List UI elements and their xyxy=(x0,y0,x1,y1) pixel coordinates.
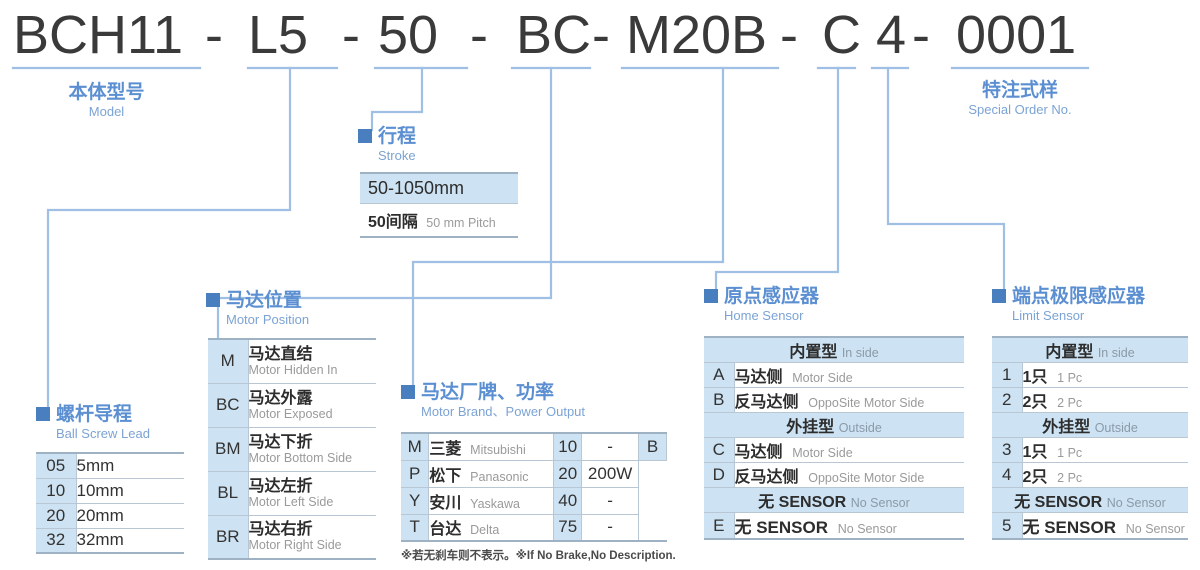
caption-stroke: 行程 Stroke xyxy=(358,126,416,164)
model-sep-2: - xyxy=(342,4,360,66)
cell-value: 10mm xyxy=(76,478,184,503)
cell-code: B xyxy=(704,388,734,413)
square-marker-icon xyxy=(206,293,220,307)
cell-value: 20mm xyxy=(76,503,184,528)
cell-code: BL xyxy=(208,471,248,515)
band-en: No Sensor xyxy=(1107,496,1166,510)
table-row: 20 20mm xyxy=(36,503,184,528)
cell-value-en: 1 Pc xyxy=(1057,371,1082,385)
table-row: B 反马达侧 OppoSite Motor Side xyxy=(704,388,964,413)
caption-stroke-cn-wrap: 行程 xyxy=(358,126,416,148)
band-cn: 外挂型 xyxy=(786,419,834,436)
cell-power-code: 20 xyxy=(554,460,582,487)
cell-value-cn: 1只 xyxy=(1023,369,1048,386)
motor-brand-footnote-en: ※If No Brake,No Description. xyxy=(516,550,676,562)
cell-code: M xyxy=(208,339,248,383)
table-row: 5 无 SENSOR No Sensor xyxy=(992,513,1188,540)
table-row: E 无 SENSOR No Sensor xyxy=(704,513,964,540)
table-row: 1 1只 1 Pc xyxy=(992,363,1188,388)
band-cn: 内置型 xyxy=(1045,344,1093,361)
stroke-pitch-cn: 50间隔 xyxy=(368,214,418,231)
cell-value: 马达外露 Motor Exposed xyxy=(248,383,376,427)
table-row: M 马达直结 Motor Hidden In xyxy=(208,339,376,383)
band-cn: 内置型 xyxy=(789,344,837,361)
cell-value-en: Motor Side xyxy=(792,446,852,460)
cell-value: 2只 2 Pc xyxy=(1022,463,1188,488)
leader-stroke xyxy=(372,68,422,130)
band-cell: 外挂型 Outside xyxy=(704,413,964,438)
table-row: D 反马达侧 OppoSite Motor Side xyxy=(704,463,964,488)
cell-value-en: No Sensor xyxy=(838,522,897,536)
cell-value-cn: 马达外露 xyxy=(249,390,377,407)
motor-brand-footnote: ※若无刹车则不表示。※If No Brake,No Description. xyxy=(401,547,676,563)
square-marker-icon xyxy=(358,129,372,143)
caption-motor-position-cn-wrap: 马达位置 xyxy=(206,290,309,312)
band-row: 内置型 In side xyxy=(992,337,1188,363)
table-row: 05 5mm xyxy=(36,453,184,478)
model-sep-3: - xyxy=(470,4,488,66)
table-row: BC 马达外露 Motor Exposed xyxy=(208,383,376,427)
caption-home-sensor-en: Home Sensor xyxy=(704,308,819,324)
caption-motor-brand-cn: 马达厂牌、功率 xyxy=(421,382,554,403)
cell-brand-name: 三菱 Mitsubishi xyxy=(429,433,554,460)
cell-value: 无 SENSOR No Sensor xyxy=(734,513,964,540)
cell-code: 32 xyxy=(36,528,76,553)
cell-value-cn: 马达直结 xyxy=(249,346,377,363)
cell-value-cn: 马达左折 xyxy=(249,478,377,495)
motor-brand-table: M 三菱 Mitsubishi 10 - B P 松下 Panasonic 20… xyxy=(401,432,667,542)
model-sep-1: - xyxy=(205,4,223,66)
band-row: 无 SENSOR No Sensor xyxy=(704,488,964,513)
cell-value: 马达右折 Motor Right Side xyxy=(248,515,376,559)
cell-brake-code xyxy=(639,487,667,514)
cell-brake-code xyxy=(639,514,667,541)
cell-value-cn: 马达右折 xyxy=(249,521,377,538)
caption-stroke-cn: 行程 xyxy=(378,126,416,147)
cell-brand-name: 松下 Panasonic xyxy=(429,460,554,487)
cell-code: 20 xyxy=(36,503,76,528)
model-seg-motor-position: BC xyxy=(516,4,591,66)
cell-value: 反马达侧 OppoSite Motor Side xyxy=(734,463,964,488)
band-en: In side xyxy=(1098,346,1135,360)
square-marker-icon xyxy=(992,289,1006,303)
caption-stroke-en: Stroke xyxy=(358,148,416,164)
caption-motor-position-cn: 马达位置 xyxy=(226,290,302,311)
cell-value: 马达侧 Motor Side xyxy=(734,363,964,388)
cell-code: C xyxy=(704,438,734,463)
model-seg-lead: L5 xyxy=(248,4,308,66)
band-en: Outside xyxy=(1095,421,1138,435)
cell-code: 1 xyxy=(992,363,1022,388)
band-row: 外挂型 Outside xyxy=(992,413,1188,438)
cell-code: 10 xyxy=(36,478,76,503)
model-code-diagram: BCH11-L5-50-BC-M20B-C4-0001 xyxy=(0,0,1200,570)
band-en: Outside xyxy=(839,421,882,435)
cell-value-en: Motor Bottom Side xyxy=(249,451,377,465)
cell-value-en: Motor Left Side xyxy=(249,495,377,509)
square-marker-icon xyxy=(36,407,50,421)
cell-value-cn: 2只 xyxy=(1023,394,1048,411)
caption-motor-brand-en: Motor Brand、Power Output xyxy=(401,404,585,420)
caption-special-order-cn: 特注式样 xyxy=(945,80,1095,102)
cell-value-cn: 反马达侧 xyxy=(735,394,799,411)
band-cell: 内置型 In side xyxy=(704,337,964,363)
cell-value-cn: 反马达侧 xyxy=(735,469,799,486)
cell-brand-name: 台达 Delta xyxy=(429,514,554,541)
caption-motor-brand-cn-wrap: 马达厂牌、功率 xyxy=(401,382,585,404)
caption-limit-sensor-en: Limit Sensor xyxy=(992,308,1145,324)
cell-value-en: 2 Pc xyxy=(1057,396,1082,410)
band-cn: 外挂型 xyxy=(1042,419,1090,436)
cell-value-en: Motor Side xyxy=(792,371,852,385)
stroke-pitch-row: 50间隔 50 mm Pitch xyxy=(360,204,518,238)
square-marker-icon xyxy=(704,289,718,303)
caption-model-en: Model xyxy=(13,104,200,120)
band-en: In side xyxy=(842,346,879,360)
caption-home-sensor-cn-wrap: 原点感应器 xyxy=(704,286,819,308)
table-row: 2 2只 2 Pc xyxy=(992,388,1188,413)
table-row: BL 马达左折 Motor Left Side xyxy=(208,471,376,515)
table-row: C 马达侧 Motor Side xyxy=(704,438,964,463)
cell-value-cn: 1只 xyxy=(1023,444,1048,461)
band-cell: 外挂型 Outside xyxy=(992,413,1188,438)
cell-value: 1只 1 Pc xyxy=(1022,438,1188,463)
cell-value: 马达直结 Motor Hidden In xyxy=(248,339,376,383)
cell-power: 200W xyxy=(582,460,639,487)
cell-value: 无 SENSOR No Sensor xyxy=(1022,513,1188,540)
square-marker-icon xyxy=(401,385,415,399)
band-row: 内置型 In side xyxy=(704,337,964,363)
model-seg-limit-sensor: 4 xyxy=(876,4,906,66)
cell-value-cn: 马达下折 xyxy=(249,434,377,451)
band-cell: 内置型 In side xyxy=(992,337,1188,363)
cell-brand-en: Panasonic xyxy=(470,470,528,484)
leader-home-sensor xyxy=(716,68,838,290)
cell-brand-code: T xyxy=(401,514,429,541)
cell-value-cn: 2只 xyxy=(1023,469,1048,486)
caption-ball-screw-lead-cn-wrap: 螺杆导程 xyxy=(36,404,150,426)
cell-brake-code: B xyxy=(639,433,667,460)
cell-brand-cn: 松下 xyxy=(429,468,461,485)
caption-home-sensor-cn: 原点感应器 xyxy=(724,286,819,307)
cell-value-cn: 马达侧 xyxy=(735,444,783,461)
cell-value: 反马达侧 OppoSite Motor Side xyxy=(734,388,964,413)
caption-ball-screw-lead-en: Ball Screw Lead xyxy=(36,426,150,442)
cell-value-en: Motor Hidden In xyxy=(249,363,377,377)
table-row: Y 安川 Yaskawa 40 - xyxy=(401,487,667,514)
table-row: BR 马达右折 Motor Right Side xyxy=(208,515,376,559)
cell-value: 马达侧 Motor Side xyxy=(734,438,964,463)
cell-code: D xyxy=(704,463,734,488)
table-row: T 台达 Delta 75 - xyxy=(401,514,667,541)
model-number: BCH11-L5-50-BC-M20B-C4-0001 xyxy=(0,4,1200,62)
limit-sensor-table: 内置型 In side 1 1只 1 Pc 2 2只 2 Pc 外挂型 Outs… xyxy=(992,336,1188,540)
band-row: 无 SENSOR No Sensor xyxy=(992,488,1188,513)
band-row: 外挂型 Outside xyxy=(704,413,964,438)
model-sep-5: - xyxy=(780,4,798,66)
caption-ball-screw-lead-cn: 螺杆导程 xyxy=(56,404,132,425)
caption-model: 本体型号 Model xyxy=(13,82,200,120)
cell-brand-cn: 台达 xyxy=(429,521,461,538)
cell-brand-name: 安川 Yaskawa xyxy=(429,487,554,514)
cell-power-code: 75 xyxy=(554,514,582,541)
caption-special-order-en: Special Order No. xyxy=(945,102,1095,118)
band-cell: 无 SENSOR No Sensor xyxy=(704,488,964,513)
cell-power: - xyxy=(582,487,639,514)
cell-brand-code: Y xyxy=(401,487,429,514)
stroke-pitch-en: 50 mm Pitch xyxy=(426,216,495,230)
cell-power-code: 10 xyxy=(554,433,582,460)
ball-screw-lead-table: 05 5mm 10 10mm 20 20mm 32 32mm xyxy=(36,452,184,554)
cell-brand-en: Mitsubishi xyxy=(470,443,526,457)
cell-value-cn: 无 SENSOR xyxy=(735,518,829,537)
cell-value: 2只 2 Pc xyxy=(1022,388,1188,413)
cell-code: BM xyxy=(208,427,248,471)
model-seg-stroke: 50 xyxy=(378,4,438,66)
cell-value-en: 2 Pc xyxy=(1057,471,1082,485)
caption-limit-sensor-cn-wrap: 端点极限感应器 xyxy=(992,286,1145,308)
table-row: 3 1只 1 Pc xyxy=(992,438,1188,463)
cell-power: - xyxy=(582,514,639,541)
model-sep-6: - xyxy=(912,4,930,66)
cell-value-en: Motor Right Side xyxy=(249,538,377,552)
cell-code: 05 xyxy=(36,453,76,478)
cell-brand-code: P xyxy=(401,460,429,487)
cell-value-en: No Sensor xyxy=(1126,522,1185,536)
cell-brand-en: Delta xyxy=(470,523,499,537)
caption-motor-brand: 马达厂牌、功率 Motor Brand、Power Output xyxy=(401,382,585,420)
cell-brand-en: Yaskawa xyxy=(470,497,520,511)
caption-motor-position: 马达位置 Motor Position xyxy=(206,290,309,328)
model-seg-model: BCH11 xyxy=(13,4,183,66)
caption-special-order: 特注式样 Special Order No. xyxy=(945,80,1095,118)
home-sensor-table: 内置型 In side A 马达侧 Motor Side B 反马达侧 Oppo… xyxy=(704,336,964,540)
band-en: No Sensor xyxy=(851,496,910,510)
cell-value: 1只 1 Pc xyxy=(1022,363,1188,388)
model-seg-motor-brand: M20B xyxy=(626,4,767,66)
cell-power-code: 40 xyxy=(554,487,582,514)
model-sep-4: - xyxy=(592,4,610,66)
cell-value-en: OppoSite Motor Side xyxy=(808,471,924,485)
cell-code: 5 xyxy=(992,513,1022,540)
cell-value-en: OppoSite Motor Side xyxy=(808,396,924,410)
stroke-range-row: 50-1050mm xyxy=(360,172,518,204)
cell-brake-code xyxy=(639,460,667,487)
motor-brand-footnote-cn: ※若无刹车则不表示。 xyxy=(401,550,516,562)
cell-code: 2 xyxy=(992,388,1022,413)
stroke-table: 50-1050mm 50间隔 50 mm Pitch xyxy=(360,172,518,238)
cell-value: 马达左折 Motor Left Side xyxy=(248,471,376,515)
table-row: 10 10mm xyxy=(36,478,184,503)
motor-position-table: M 马达直结 Motor Hidden In BC 马达外露 Motor Exp… xyxy=(208,338,376,560)
cell-brand-code: M xyxy=(401,433,429,460)
cell-brand-cn: 安川 xyxy=(429,495,461,512)
caption-motor-position-en: Motor Position xyxy=(206,312,309,328)
band-cell: 无 SENSOR No Sensor xyxy=(992,488,1188,513)
table-row: P 松下 Panasonic 20 200W xyxy=(401,460,667,487)
caption-home-sensor: 原点感应器 Home Sensor xyxy=(704,286,819,324)
cell-value: 32mm xyxy=(76,528,184,553)
cell-value-cn: 无 SENSOR xyxy=(1023,518,1117,537)
cell-value: 5mm xyxy=(76,453,184,478)
cell-value: 马达下折 Motor Bottom Side xyxy=(248,427,376,471)
cell-code: BR xyxy=(208,515,248,559)
caption-limit-sensor: 端点极限感应器 Limit Sensor xyxy=(992,286,1145,324)
table-row: A 马达侧 Motor Side xyxy=(704,363,964,388)
band-cn: 无 SENSOR xyxy=(758,494,846,511)
model-seg-home-sensor: C xyxy=(822,4,861,66)
table-row: 4 2只 2 Pc xyxy=(992,463,1188,488)
cell-value-en: Motor Exposed xyxy=(249,407,377,421)
cell-code: 4 xyxy=(992,463,1022,488)
cell-code: BC xyxy=(208,383,248,427)
caption-limit-sensor-cn: 端点极限感应器 xyxy=(1012,286,1145,307)
caption-ball-screw-lead: 螺杆导程 Ball Screw Lead xyxy=(36,404,150,442)
cell-code: 3 xyxy=(992,438,1022,463)
band-cn: 无 SENSOR xyxy=(1014,494,1102,511)
cell-value-en: 1 Pc xyxy=(1057,446,1082,460)
table-row: M 三菱 Mitsubishi 10 - B xyxy=(401,433,667,460)
cell-value-cn: 马达侧 xyxy=(735,369,783,386)
cell-code: E xyxy=(704,513,734,540)
caption-model-cn: 本体型号 xyxy=(13,82,200,104)
cell-brand-cn: 三菱 xyxy=(429,441,461,458)
table-row: 32 32mm xyxy=(36,528,184,553)
cell-power: - xyxy=(582,433,639,460)
cell-code: A xyxy=(704,363,734,388)
model-seg-special-order: 0001 xyxy=(956,4,1076,66)
table-row: BM 马达下折 Motor Bottom Side xyxy=(208,427,376,471)
